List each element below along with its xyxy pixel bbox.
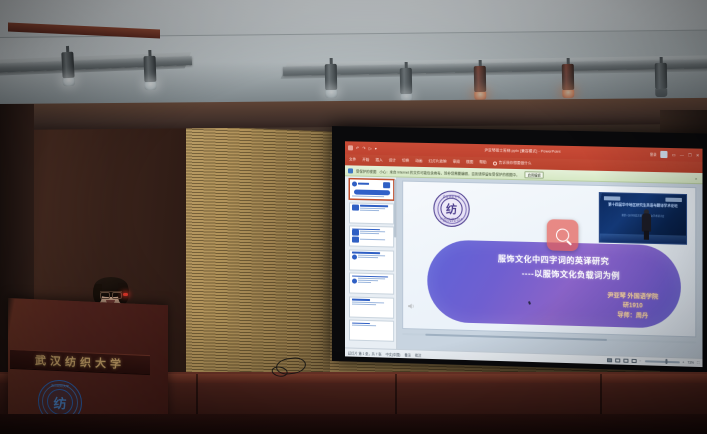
author-advisor: 导师：周丹 bbox=[607, 311, 658, 322]
slide-canvas-area[interactable]: 武汉纺织大学 纺 WUHAN TEXTILE UNIVERSITY 第十四届华中… bbox=[397, 177, 702, 357]
current-slide[interactable]: 武汉纺织大学 纺 WUHAN TEXTILE UNIVERSITY 第十四届华中… bbox=[402, 181, 696, 338]
powerpoint-window[interactable]: ↶ ↷ ▷ ▾ 尹亚琴硕士答辩.pptx [兼容模式] - PowerPoint… bbox=[345, 141, 703, 367]
notes-button[interactable]: 备注 bbox=[405, 352, 411, 357]
audio-speaker-icon bbox=[407, 302, 415, 310]
comments-button[interactable]: 批注 bbox=[415, 352, 421, 357]
backdrop-logo-left bbox=[604, 196, 620, 200]
slide-subtitle: ----以服饰文化负载词为例 bbox=[427, 265, 681, 283]
shield-icon bbox=[348, 168, 353, 173]
tab-file[interactable]: 文件 bbox=[349, 157, 356, 162]
protected-view-title: 受保护的视图 bbox=[356, 168, 376, 173]
tab-review[interactable]: 审阅 bbox=[453, 160, 460, 165]
slide-indicator: 幻灯片 第 1 张，共 7 张 bbox=[348, 350, 382, 356]
close-notice-icon[interactable]: × bbox=[695, 175, 699, 180]
slide-thumbnail-3[interactable] bbox=[349, 225, 394, 247]
enable-editing-button[interactable]: 启用编辑 bbox=[525, 171, 544, 178]
slide-thumbnail-2[interactable] bbox=[349, 202, 394, 224]
thumbnail-scrollbar[interactable] bbox=[394, 179, 396, 237]
projection-screen: ↶ ↷ ▷ ▾ 尹亚琴硕士答辩.pptx [兼容模式] - PowerPoint… bbox=[332, 126, 707, 373]
status-right-group[interactable]: − + 73% ⛶ bbox=[607, 358, 700, 365]
sorter-view-icon[interactable] bbox=[615, 358, 620, 362]
seal-bottom-text: WUHAN TEXTILE UNIVERSITY bbox=[434, 218, 468, 223]
photo-person bbox=[639, 209, 652, 240]
normal-view-icon[interactable] bbox=[607, 358, 612, 362]
magnifier-icon bbox=[556, 228, 569, 241]
tab-view[interactable]: 视图 bbox=[466, 160, 473, 165]
fit-to-window-icon[interactable]: ⛶ bbox=[697, 361, 699, 365]
slide-thumbnail-1[interactable] bbox=[349, 178, 394, 200]
screenshot-search-overlay[interactable] bbox=[547, 219, 579, 251]
university-seal-logo: 武汉纺织大学 纺 WUHAN TEXTILE UNIVERSITY bbox=[433, 190, 469, 227]
tab-home[interactable]: 开始 bbox=[362, 158, 369, 163]
slide-thumbnail-6[interactable] bbox=[349, 296, 394, 318]
mouse-cursor-icon bbox=[528, 301, 531, 305]
lightbulb-icon bbox=[493, 161, 497, 165]
zoom-out-icon[interactable]: − bbox=[639, 359, 641, 363]
powerpoint-body: 武汉纺织大学 纺 WUHAN TEXTILE UNIVERSITY 第十四届华中… bbox=[345, 176, 703, 358]
backdrop-logo-right bbox=[665, 197, 681, 201]
zoom-slider[interactable] bbox=[644, 361, 679, 364]
tab-animations[interactable]: 动画 bbox=[415, 159, 422, 164]
reading-view-icon[interactable] bbox=[623, 359, 628, 363]
tab-help[interactable]: 帮助 bbox=[479, 160, 486, 165]
slideshow-view-icon[interactable] bbox=[631, 359, 636, 363]
conference-photo-inset: 第十四届华中地区研究生英语与翻译学术论坛 暨第八届中国英汉语比较研究会学术研讨会 bbox=[599, 192, 687, 245]
tab-transitions[interactable]: 切换 bbox=[402, 158, 409, 163]
tell-me-label: 告诉我你想要做什么 bbox=[499, 161, 532, 167]
glasses-icon bbox=[100, 291, 122, 296]
language-indicator[interactable]: 中文(中国) bbox=[386, 351, 401, 356]
tab-slideshow[interactable]: 幻灯片放映 bbox=[428, 159, 446, 164]
zoom-in-icon[interactable]: + bbox=[682, 360, 684, 364]
floor bbox=[0, 414, 707, 434]
tell-me-box[interactable]: 告诉我你想要做什么 bbox=[493, 160, 532, 166]
tab-design[interactable]: 设计 bbox=[389, 158, 396, 163]
lecture-hall-scene: ↶ ↷ ▷ ▾ 尹亚琴硕士答辩.pptx [兼容模式] - PowerPoint… bbox=[0, 0, 707, 434]
protected-view-text: 小心：来自 Internet 的文件可能包含病毒。除非您需要编辑，否则请停留在受… bbox=[379, 169, 519, 177]
slide-thumbnail-panel[interactable] bbox=[345, 176, 397, 349]
slide-thumbnail-4[interactable] bbox=[349, 249, 394, 271]
zoom-level[interactable]: 73% bbox=[687, 361, 694, 365]
slide-author-block: 尹亚琴 外国语学院 研1910 导师：周丹 bbox=[607, 292, 658, 322]
podium-university-name: 武汉纺织大学 bbox=[35, 352, 125, 372]
slide-thumbnail-7[interactable] bbox=[349, 319, 394, 341]
seal-top-text: 武汉纺织大学 bbox=[434, 194, 468, 199]
microphone-indicator-light bbox=[123, 293, 128, 296]
title-oval-shape: 服饰文化中四字词的英译研究 ----以服饰文化负载词为例 尹亚琴 外国语学院 研… bbox=[427, 239, 681, 329]
tab-insert[interactable]: 插入 bbox=[375, 158, 382, 163]
slide-thumbnail-5[interactable] bbox=[349, 272, 394, 294]
